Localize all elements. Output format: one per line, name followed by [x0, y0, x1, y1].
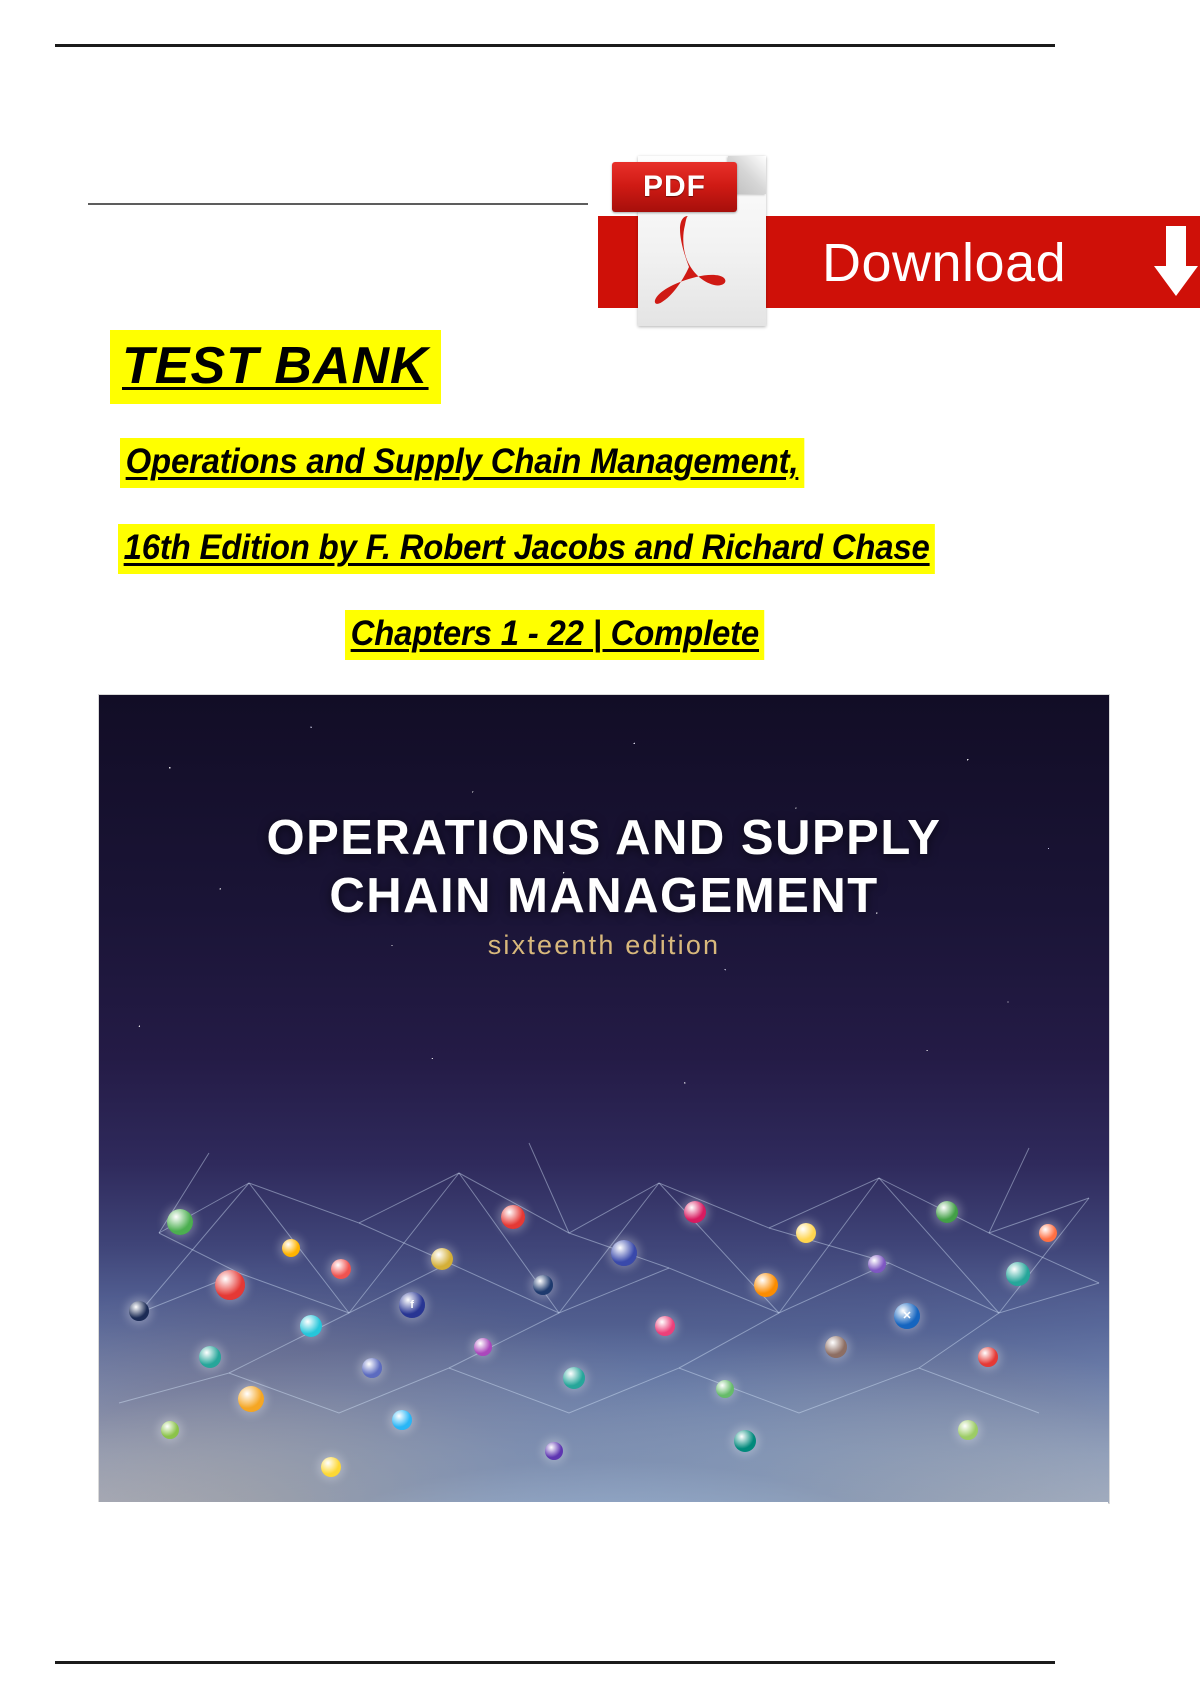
- network-node-icon: [978, 1347, 998, 1367]
- network-node-icon: [563, 1367, 585, 1389]
- cover-node-layer: f✕: [99, 983, 1109, 1503]
- network-node-icon: f: [399, 1292, 425, 1318]
- network-node-icon: [161, 1421, 179, 1439]
- page-bottom-rule: [55, 1661, 1055, 1664]
- book-cover-image: OPERATIONS AND SUPPLY CHAIN MANAGEMENT s…: [98, 694, 1110, 1504]
- acrobat-logo-icon: [644, 210, 730, 314]
- network-node-icon: [868, 1255, 886, 1273]
- page-top-rule: [55, 44, 1055, 47]
- network-node-icon: [501, 1205, 525, 1229]
- network-node-icon: [199, 1346, 221, 1368]
- network-node-icon: [936, 1201, 958, 1223]
- network-node-icon: [238, 1386, 264, 1412]
- book-title-line-2: 16th Edition by F. Robert Jacobs and Ric…: [118, 524, 987, 574]
- network-node-icon: [129, 1301, 149, 1321]
- network-node-icon: [362, 1358, 382, 1378]
- network-node-icon: [825, 1336, 847, 1358]
- cover-title-line-2: CHAIN MANAGEMENT: [99, 868, 1109, 926]
- network-node-icon: [716, 1380, 734, 1398]
- cover-title-line-1: OPERATIONS AND SUPPLY: [99, 810, 1109, 868]
- book-title-line-1: Operations and Supply Chain Management,: [120, 438, 848, 488]
- network-node-icon: [321, 1457, 341, 1477]
- network-node-icon: [684, 1201, 706, 1223]
- network-node-icon: [796, 1223, 816, 1243]
- network-node-icon: [167, 1209, 193, 1235]
- download-arrow-icon: [1152, 226, 1198, 302]
- page-mid-rule: [88, 203, 588, 205]
- book-title-line-3-text: Chapters 1 - 22 | Complete: [345, 610, 765, 660]
- cover-bottom-gutter: [98, 1502, 1108, 1622]
- network-node-icon: [215, 1270, 245, 1300]
- test-bank-heading-text: TEST BANK: [110, 330, 441, 404]
- network-node-icon: [331, 1259, 351, 1279]
- pdf-badge-label: PDF: [643, 170, 706, 204]
- pdf-download-banner[interactable]: Download PDF: [598, 148, 1200, 330]
- network-node-icon: [545, 1442, 563, 1460]
- network-node-icon: [474, 1338, 492, 1356]
- network-node-icon: [734, 1430, 756, 1452]
- network-node-icon: [392, 1410, 412, 1430]
- network-node-icon: [282, 1239, 300, 1257]
- network-node-icon: [611, 1240, 637, 1266]
- book-title-line-3: Chapters 1 - 22 | Complete: [345, 610, 791, 660]
- network-node-icon: ✕: [894, 1303, 920, 1329]
- network-node-icon: [754, 1273, 778, 1297]
- network-node-icon: [300, 1315, 322, 1337]
- download-label: Download: [822, 228, 1066, 298]
- cover-edition-label: sixteenth edition: [99, 930, 1109, 961]
- network-node-icon: [1039, 1224, 1057, 1242]
- network-node-icon: [655, 1316, 675, 1336]
- book-title-line-1-text: Operations and Supply Chain Management,: [120, 438, 804, 488]
- test-bank-heading: TEST BANK: [110, 330, 441, 404]
- cover-title: OPERATIONS AND SUPPLY CHAIN MANAGEMENT: [99, 810, 1109, 926]
- pdf-badge: PDF: [612, 162, 737, 212]
- network-node-icon: [958, 1420, 978, 1440]
- network-node-icon: [1006, 1262, 1030, 1286]
- network-node-icon: [533, 1275, 553, 1295]
- book-title-line-2-text: 16th Edition by F. Robert Jacobs and Ric…: [118, 524, 935, 574]
- network-node-icon: [431, 1248, 453, 1270]
- document-page: Download PDF TEST BANK Operations and Su…: [0, 0, 1200, 1700]
